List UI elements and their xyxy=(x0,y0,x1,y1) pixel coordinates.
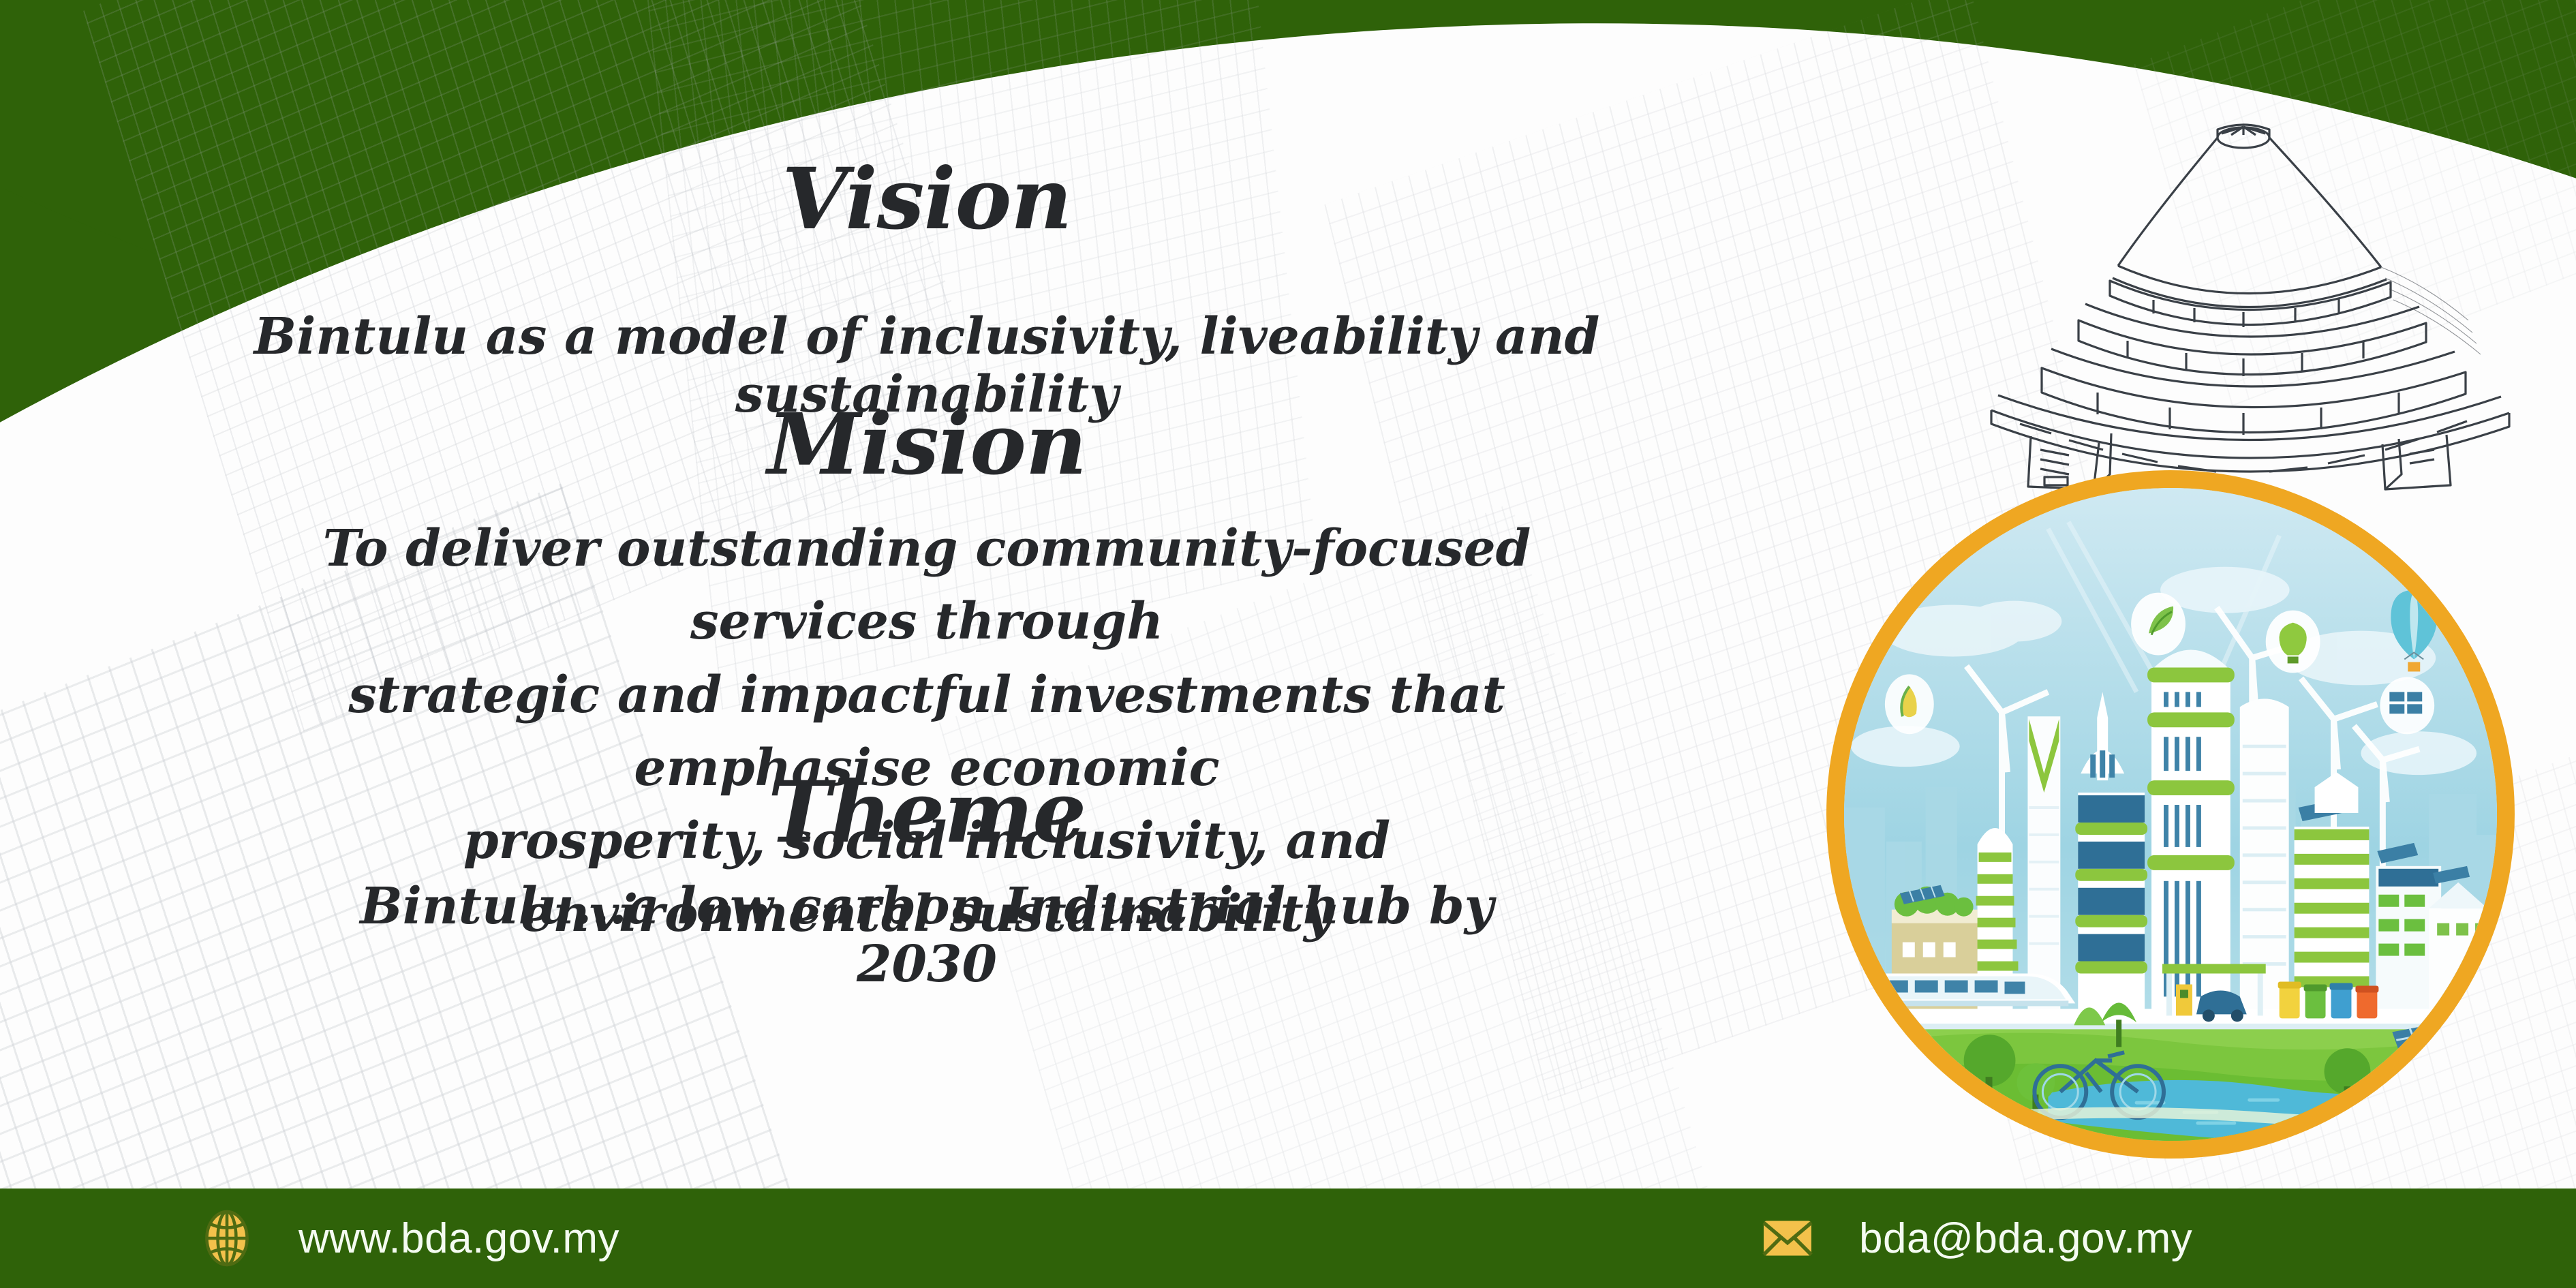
theme-heading: Theme xyxy=(518,769,1336,857)
footer-bar: www.bda.gov.my bda@bda.gov.my xyxy=(0,1189,2576,1288)
vision-heading: Vision xyxy=(518,155,1336,244)
mission-line-1: To deliver outstanding community-focused… xyxy=(259,512,1595,659)
eco-city-illustration xyxy=(1844,488,2497,1141)
footer-website[interactable]: www.bda.gov.my xyxy=(198,1209,619,1268)
eco-city-circle xyxy=(1826,470,2515,1159)
footer-email[interactable]: bda@bda.gov.my xyxy=(1758,1209,2192,1268)
bda-vision-mission-banner: Vision Bintulu as a model of inclusivity… xyxy=(0,0,2576,1288)
mission-heading: Mision xyxy=(518,401,1336,489)
theme-statement: Bintulu...a low carbon Industrial hub by… xyxy=(286,878,1567,994)
website-label: www.bda.gov.my xyxy=(298,1214,619,1263)
electric-train xyxy=(1844,974,2075,1007)
globe-icon xyxy=(198,1209,256,1268)
eco-city-svg xyxy=(1844,488,2497,1141)
corn-badge xyxy=(1885,674,1934,734)
solar-badge xyxy=(2380,677,2434,734)
text-content: Vision Bintulu as a model of inclusivity… xyxy=(0,0,1881,1193)
leaf-badge xyxy=(2131,593,2186,656)
light-bulb-badge xyxy=(2266,611,2320,673)
email-label: bda@bda.gov.my xyxy=(1859,1214,2192,1263)
envelope-icon xyxy=(1758,1209,1817,1268)
